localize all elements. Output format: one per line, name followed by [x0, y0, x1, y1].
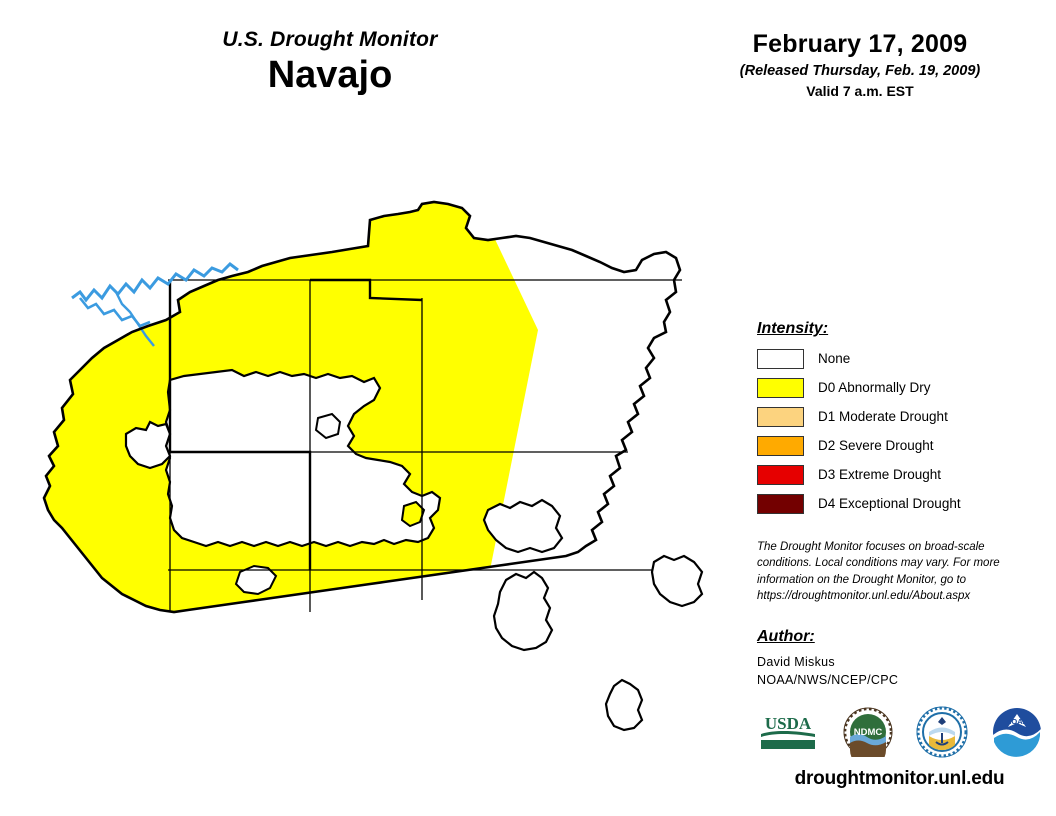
agency-logos: USDA NDMC — [757, 706, 1042, 762]
page-title: U.S. Drought Monitor — [0, 28, 660, 52]
legend-label-none: None — [818, 351, 850, 366]
author-heading: Author: — [757, 628, 1037, 646]
legend-item-d4[interactable]: D4 Exceptional Drought — [757, 492, 1047, 515]
author-name: David Miskus — [757, 653, 1037, 671]
disclaimer-line-2: conditions. Local conditions may vary. F… — [757, 555, 1037, 571]
author-block: Author: David Miskus NOAA/NWS/NCEP/CPC — [757, 628, 1037, 689]
enclave-inner-d0 — [402, 502, 424, 526]
parcel-south — [606, 680, 642, 730]
disclaimer: The Drought Monitor focuses on broad-sca… — [757, 539, 1037, 604]
legend-item-d0[interactable]: D0 Abnormally Dry — [757, 376, 1047, 399]
drought-map — [18, 180, 748, 740]
header-left: U.S. Drought Monitor Navajo — [0, 28, 660, 96]
noaa-logo-text: NOAA — [1006, 717, 1029, 726]
legend-swatch-none — [757, 349, 804, 369]
legend-swatch-d4 — [757, 494, 804, 514]
header-right: February 17, 2009 (Released Thursday, Fe… — [680, 30, 1040, 99]
parcel-central — [494, 572, 552, 650]
map-svg — [18, 180, 748, 740]
valid-time: Valid 7 a.m. EST — [680, 83, 1040, 99]
legend-swatch-d3 — [757, 465, 804, 485]
legend-label-d3: D3 Extreme Drought — [818, 467, 941, 482]
website-url[interactable]: droughtmonitor.unl.edu — [757, 768, 1042, 790]
legend-label-d2: D2 Severe Drought — [818, 438, 934, 453]
legend-item-d3[interactable]: D3 Extreme Drought — [757, 463, 1047, 486]
release-date: (Released Thursday, Feb. 19, 2009) — [680, 63, 1040, 79]
legend-item-d2[interactable]: D2 Severe Drought — [757, 434, 1047, 457]
river-tributary-1 — [80, 298, 150, 326]
region-title: Navajo — [0, 56, 660, 96]
usda-logo-text: USDA — [765, 714, 812, 733]
legend-label-d1: D1 Moderate Drought — [818, 409, 948, 424]
legend-swatch-d0 — [757, 378, 804, 398]
ndmc-logo: NDMC — [843, 707, 893, 762]
legend: Intensity: None D0 Abnormally Dry D1 Mod… — [757, 320, 1047, 521]
noaa-logo: NOAA — [992, 707, 1042, 762]
legend-item-none[interactable]: None — [757, 347, 1047, 370]
legend-swatch-d1 — [757, 407, 804, 427]
usda-logo: USDA — [757, 709, 819, 760]
legend-label-d4: D4 Exceptional Drought — [818, 496, 961, 511]
legend-label-d0: D0 Abnormally Dry — [818, 380, 931, 395]
disclaimer-line-1: The Drought Monitor focuses on broad-sca… — [757, 539, 1037, 555]
ndmc-logo-text: NDMC — [853, 727, 882, 738]
legend-item-d1[interactable]: D1 Moderate Drought — [757, 405, 1047, 428]
author-affiliation: NOAA/NWS/NCEP/CPC — [757, 671, 1037, 689]
map-date: February 17, 2009 — [680, 30, 1040, 59]
parcel-east — [652, 556, 702, 606]
disclaimer-line-3: information on the Drought Monitor, go t… — [757, 572, 1037, 588]
nws-seal-logo — [916, 706, 968, 763]
disclaimer-url[interactable]: https://droughtmonitor.unl.edu/About.asp… — [757, 588, 1037, 604]
legend-title: Intensity: — [757, 320, 1047, 338]
legend-swatch-d2 — [757, 436, 804, 456]
